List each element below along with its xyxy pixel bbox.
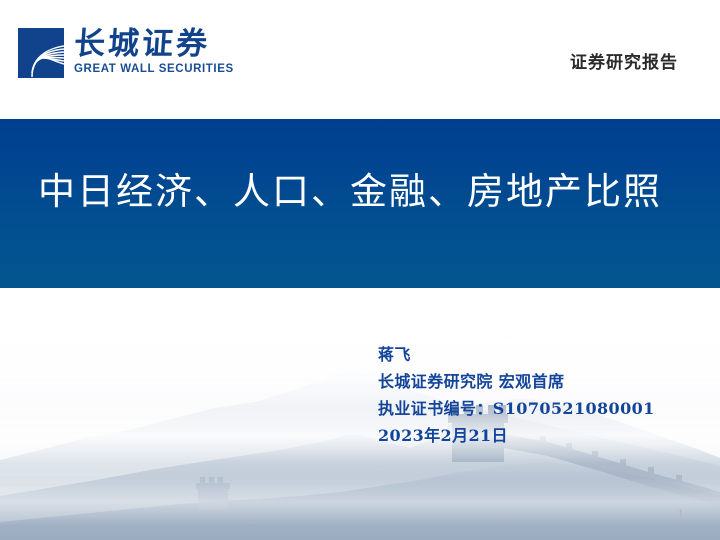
report-kind-label: 证券研究报告 [570, 48, 678, 73]
logo-english-name: GREAT WALL SECURITIES [74, 63, 234, 75]
author-license-number: 执业证书编号：S1070521080001 [378, 395, 698, 422]
page-title: 中日经济、人口、金融、房地产比照 [38, 169, 686, 215]
watchtower-left [196, 477, 230, 510]
slide-cover: 长城证券 GREAT WALL SECURITIES 证券研究报告 中日经济、人… [0, 0, 720, 540]
great-wall-fan-logo-icon [18, 28, 64, 78]
brand-logo[interactable]: 长城证券 GREAT WALL SECURITIES [18, 28, 234, 78]
author-name: 蒋飞 [378, 341, 698, 368]
report-date: 2023年2月21日 [378, 422, 698, 449]
author-affiliation: 长城证券研究院 宏观首席 [378, 368, 698, 395]
title-banner: 中日经济、人口、金融、房地产比照 [0, 119, 720, 288]
slide-header: 长城证券 GREAT WALL SECURITIES 证券研究报告 [0, 0, 720, 110]
logo-chinese-name: 长城证券 [73, 28, 235, 61]
author-block: 蒋飞 长城证券研究院 宏观首席 执业证书编号：S1070521080001 20… [378, 341, 698, 449]
page-number: 1 [678, 506, 685, 522]
